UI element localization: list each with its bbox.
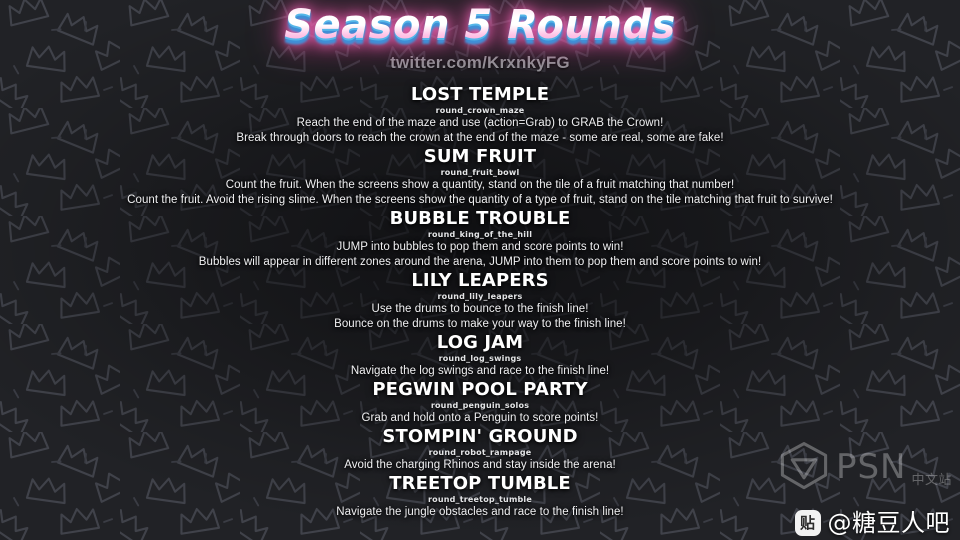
round-list: LOST TEMPLE round_crown_maze Reach the e… — [0, 84, 960, 520]
round-description-line-1: Grab and hold onto a Penguin to score po… — [0, 411, 960, 426]
round-description-line-2: Bounce on the drums to make your way to … — [0, 317, 960, 332]
credit-subtitle: twitter.com/KrxnkyFG — [0, 53, 960, 73]
round-name: TREETOP TUMBLE — [0, 473, 960, 494]
round-internal-id: round_log_swings — [0, 353, 960, 364]
round-name: LOG JAM — [0, 332, 960, 353]
round-name: PEGWIN POOL PARTY — [0, 379, 960, 400]
round-name: SUM FRUIT — [0, 146, 960, 167]
round-description-line-1: Reach the end of the maze and use (actio… — [0, 116, 960, 131]
round-description-line-2: Break through doors to reach the crown a… — [0, 131, 960, 146]
round-internal-id: round_lily_leapers — [0, 291, 960, 302]
round-description-line-1: JUMP into bubbles to pop them and score … — [0, 240, 960, 255]
round-entry-lost-temple: LOST TEMPLE round_crown_maze Reach the e… — [0, 84, 960, 146]
page-title: Season 5 Rounds — [0, 2, 960, 48]
round-entry-sum-fruit: SUM FRUIT round_fruit_bowl Count the fru… — [0, 146, 960, 208]
content-layer: Season 5 Rounds twitter.com/KrxnkyFG LOS… — [0, 0, 960, 540]
round-internal-id: round_penguin_solos — [0, 400, 960, 411]
round-internal-id: round_robot_rampage — [0, 447, 960, 458]
round-description-line-1: Use the drums to bounce to the finish li… — [0, 302, 960, 317]
round-description-line-1: Avoid the charging Rhinos and stay insid… — [0, 458, 960, 473]
round-entry-bubble-trouble: BUBBLE TROUBLE round_king_of_the_hill JU… — [0, 208, 960, 270]
header: Season 5 Rounds twitter.com/KrxnkyFG — [0, 0, 960, 73]
round-entry-pegwin-pool-party: PEGWIN POOL PARTY round_penguin_solos Gr… — [0, 379, 960, 426]
round-description-line-2: Count the fruit. Avoid the rising slime.… — [0, 193, 960, 208]
round-description-line-1: Navigate the log swings and race to the … — [0, 364, 960, 379]
screenshot-canvas: Season 5 Rounds twitter.com/KrxnkyFG LOS… — [0, 0, 960, 540]
round-name: LOST TEMPLE — [0, 84, 960, 105]
round-internal-id: round_treetop_tumble — [0, 494, 960, 505]
round-entry-stompin-ground: STOMPIN' GROUND round_robot_rampage Avoi… — [0, 426, 960, 473]
round-entry-treetop-tumble: TREETOP TUMBLE round_treetop_tumble Navi… — [0, 473, 960, 520]
round-description-line-1: Navigate the jungle obstacles and race t… — [0, 505, 960, 520]
round-entry-log-jam: LOG JAM round_log_swings Navigate the lo… — [0, 332, 960, 379]
round-internal-id: round_king_of_the_hill — [0, 229, 960, 240]
round-internal-id: round_fruit_bowl — [0, 167, 960, 178]
round-entry-lily-leapers: LILY LEAPERS round_lily_leapers Use the … — [0, 270, 960, 332]
round-name: BUBBLE TROUBLE — [0, 208, 960, 229]
round-description-line-2: Bubbles will appear in different zones a… — [0, 255, 960, 270]
round-description-line-1: Count the fruit. When the screens show a… — [0, 178, 960, 193]
round-internal-id: round_crown_maze — [0, 105, 960, 116]
round-name: STOMPIN' GROUND — [0, 426, 960, 447]
round-name: LILY LEAPERS — [0, 270, 960, 291]
